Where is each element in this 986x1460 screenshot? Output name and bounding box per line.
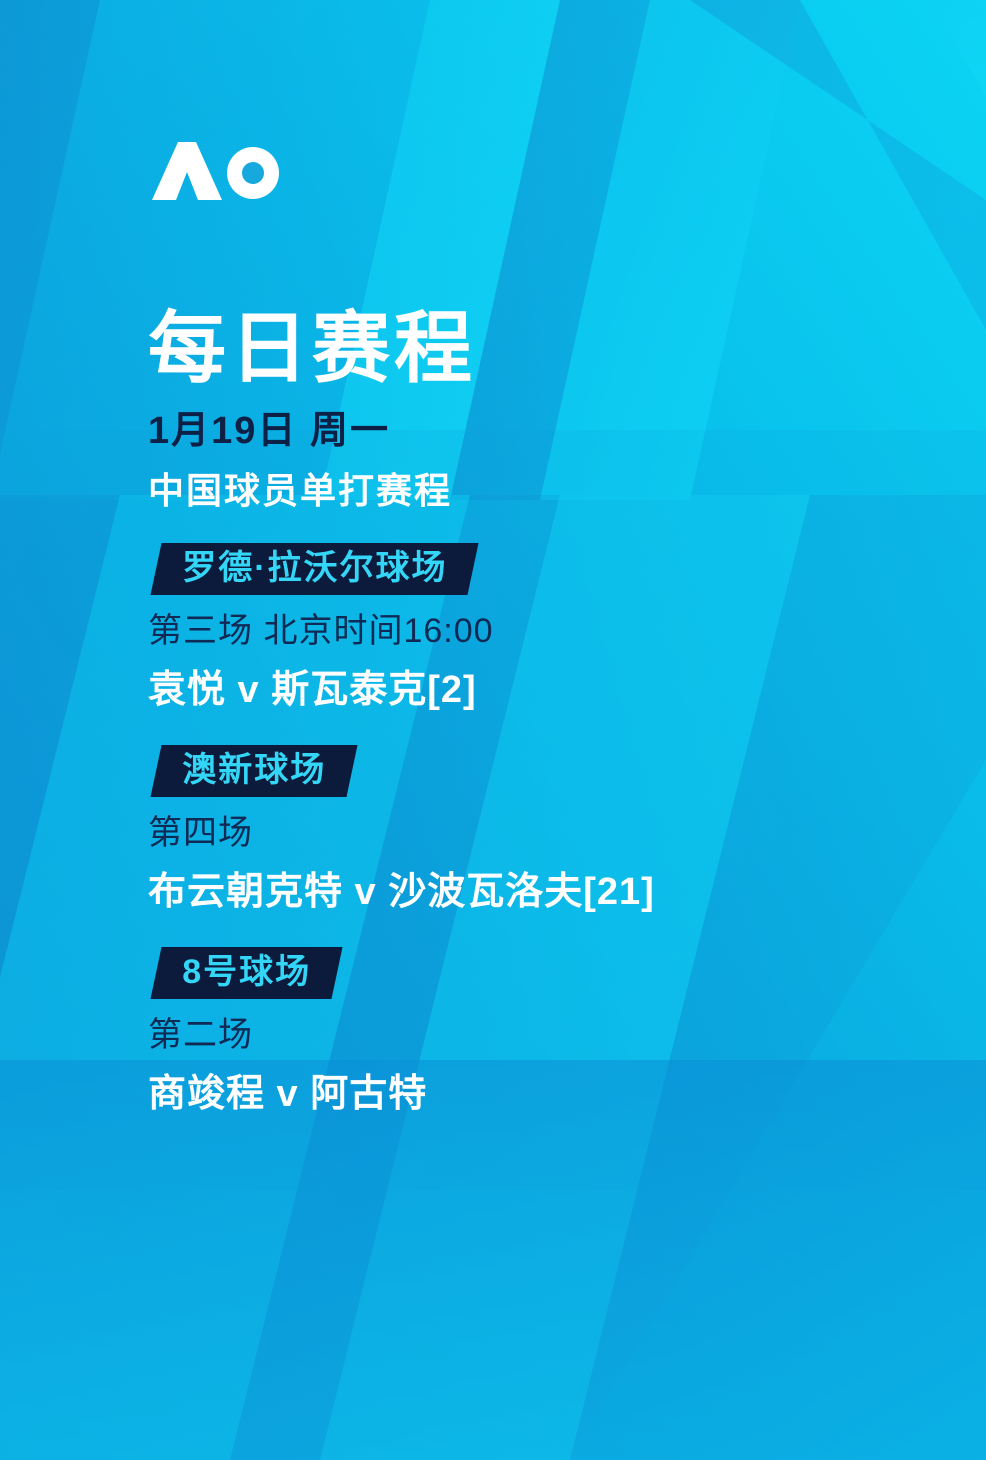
court-name: 8号球场 [182, 952, 311, 992]
match-item: 罗德·拉沃尔球场 第三场 北京时间16:00 袁悦 v 斯瓦泰克[2] [142, 543, 882, 713]
page-title: 每日赛程 [148, 308, 848, 389]
match-players: 袁悦 v 斯瓦泰克[2] [148, 658, 882, 713]
match-item: 澳新球场 第四场 布云朝克特 v 沙波瓦洛夫[21] [142, 745, 882, 915]
court-name: 罗德·拉沃尔球场 [182, 548, 447, 588]
match-list: 罗德·拉沃尔球场 第三场 北京时间16:00 袁悦 v 斯瓦泰克[2] 澳新球场… [142, 543, 882, 1149]
match-meta: 第三场 北京时间16:00 [148, 603, 882, 652]
match-players: 商竣程 v 阿古特 [148, 1062, 882, 1117]
schedule-date: 1月19日 周一 [148, 399, 848, 454]
daily-schedule-poster: 每日赛程 1月19日 周一 中国球员单打赛程 罗德·拉沃尔球场 第三场 北京时间… [0, 0, 986, 1460]
court-name: 澳新球场 [182, 750, 326, 790]
match-players: 布云朝克特 v 沙波瓦洛夫[21] [148, 860, 882, 915]
court-badge: 澳新球场 [150, 745, 357, 797]
headline-block: 每日赛程 1月19日 周一 中国球员单打赛程 [148, 308, 848, 514]
match-meta: 第四场 [148, 805, 882, 854]
ao-logo-icon [150, 140, 282, 202]
court-badge: 8号球场 [150, 947, 342, 999]
content-column: 每日赛程 1月19日 周一 中国球员单打赛程 罗德·拉沃尔球场 第三场 北京时间… [142, 0, 882, 1460]
ao-logo [150, 140, 282, 202]
court-badge: 罗德·拉沃尔球场 [150, 543, 478, 595]
match-item: 8号球场 第二场 商竣程 v 阿古特 [142, 947, 882, 1117]
schedule-subtitle: 中国球员单打赛程 [148, 462, 848, 514]
match-meta: 第二场 [148, 1007, 882, 1056]
